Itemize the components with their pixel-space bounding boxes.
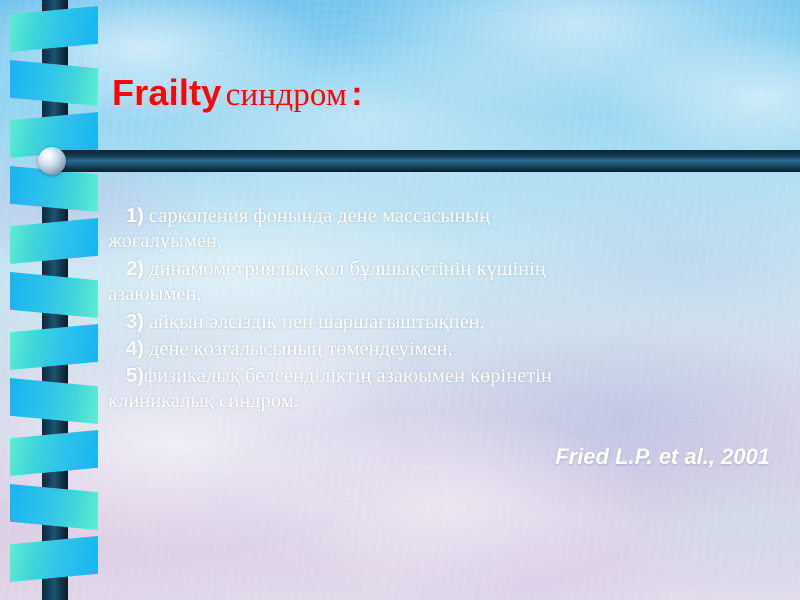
- ribbon-segment: [10, 536, 98, 582]
- slide-title: Frailty синдром :: [112, 72, 363, 114]
- ribbon-segment: [10, 60, 98, 106]
- list-item-text: физикалық белсенділіктің азаюымен көріне…: [144, 365, 552, 387]
- body-list: 1) саркопения фонында дене массасының жо…: [108, 204, 773, 417]
- ribbon-segment: [10, 378, 98, 424]
- title-colon: :: [351, 75, 363, 113]
- list-item: 3) айқын әлсіздік пен шаршағыштықпен,: [108, 310, 773, 335]
- list-item-continuation: жоғалуымен,: [108, 230, 222, 252]
- ribbon-segment: [10, 484, 98, 530]
- ribbon-segment: [10, 324, 98, 370]
- list-item-number: 2): [108, 258, 144, 280]
- list-item: 5)физикалық белсенділіктің азаюымен көрі…: [108, 364, 773, 414]
- slide-canvas: Frailty синдром : 1) саркопения фонында …: [0, 0, 800, 600]
- list-item-text: айқын әлсіздік пен шаршағыштықпен,: [149, 311, 485, 333]
- list-item-continuation: клиникалық синдром.: [108, 390, 299, 412]
- list-item: 1) саркопения фонында дене массасының жо…: [108, 204, 773, 254]
- list-item-number: 4): [108, 338, 144, 360]
- list-item: 4) дене қозғалысының төмендеуімен,: [108, 337, 773, 362]
- list-item-continuation: азаюымен,: [108, 283, 202, 305]
- ribbon-segment: [10, 430, 98, 476]
- list-item: 2) динамометриялық қол бұлшықетінің күші…: [108, 257, 773, 307]
- list-item-number: 1): [108, 205, 144, 227]
- list-item-text: саркопения фонында дене массасының: [149, 205, 490, 227]
- horizontal-title-rule: [52, 150, 800, 172]
- twisted-ribbon-border: [0, 0, 108, 600]
- ribbon-segment: [10, 6, 98, 52]
- title-english-word: Frailty: [112, 72, 221, 113]
- list-item-text: динамометриялық қол бұлшықетінің күшінің: [149, 258, 546, 280]
- citation-reference: Fried L.P. et al., 2001: [555, 444, 770, 470]
- title-cyrillic-word: синдром: [226, 77, 347, 113]
- list-item-number: 3): [108, 311, 144, 333]
- list-item-number: 5): [108, 365, 144, 387]
- glossy-sphere-bullet: [38, 147, 66, 175]
- ribbon-segment: [10, 272, 98, 318]
- ribbon-segment: [10, 218, 98, 264]
- list-item-text: дене қозғалысының төмендеуімен,: [149, 338, 453, 360]
